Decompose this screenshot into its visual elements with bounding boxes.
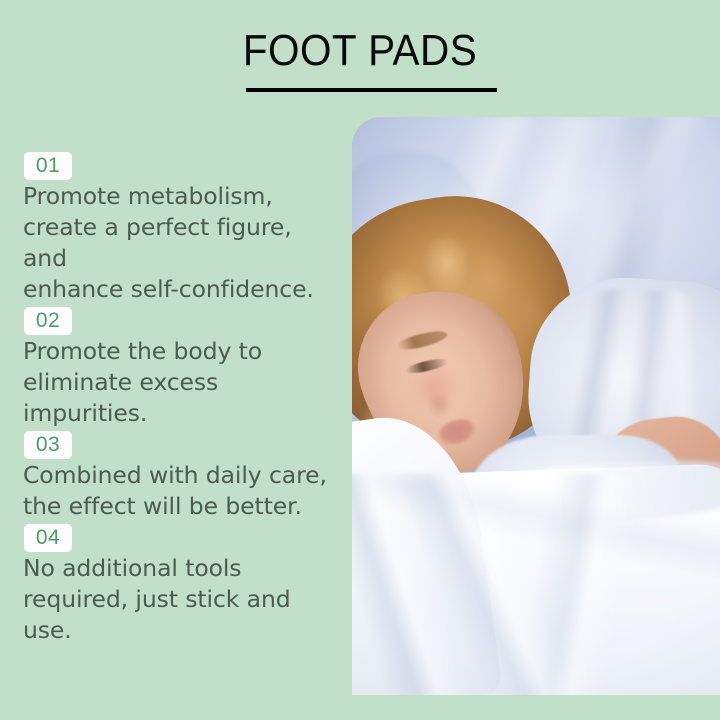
feature-description: Promote the body to eliminate excess imp… <box>23 336 334 429</box>
photo-canvas <box>352 117 720 695</box>
product-feature-poster: FOOT PADS 01 Promote metabolism, create … <box>0 0 720 720</box>
feature-description: No additional tools required, just stick… <box>23 553 334 646</box>
feature-description: Promote metabolism, create a perfect fig… <box>23 181 334 305</box>
list-item: 01 Promote metabolism, create a perfect … <box>24 152 334 305</box>
feature-list: 01 Promote metabolism, create a perfect … <box>24 152 334 648</box>
photo-vignette <box>352 117 720 695</box>
list-item: 04 No additional tools required, just st… <box>24 524 334 646</box>
list-item: 03 Combined with daily care, the effect … <box>24 431 334 522</box>
page-title: FOOT PADS <box>29 26 691 76</box>
feature-number-badge: 04 <box>24 524 72 552</box>
feature-number-badge: 03 <box>24 431 72 459</box>
title-block: FOOT PADS <box>0 26 720 76</box>
sleeping-woman-photo <box>352 117 720 695</box>
list-item: 02 Promote the body to eliminate excess … <box>24 307 334 429</box>
feature-number-badge: 02 <box>24 307 72 335</box>
feature-description: Combined with daily care, the effect wil… <box>23 460 334 522</box>
title-underline-divider <box>246 88 497 92</box>
feature-number-badge: 01 <box>24 152 72 180</box>
